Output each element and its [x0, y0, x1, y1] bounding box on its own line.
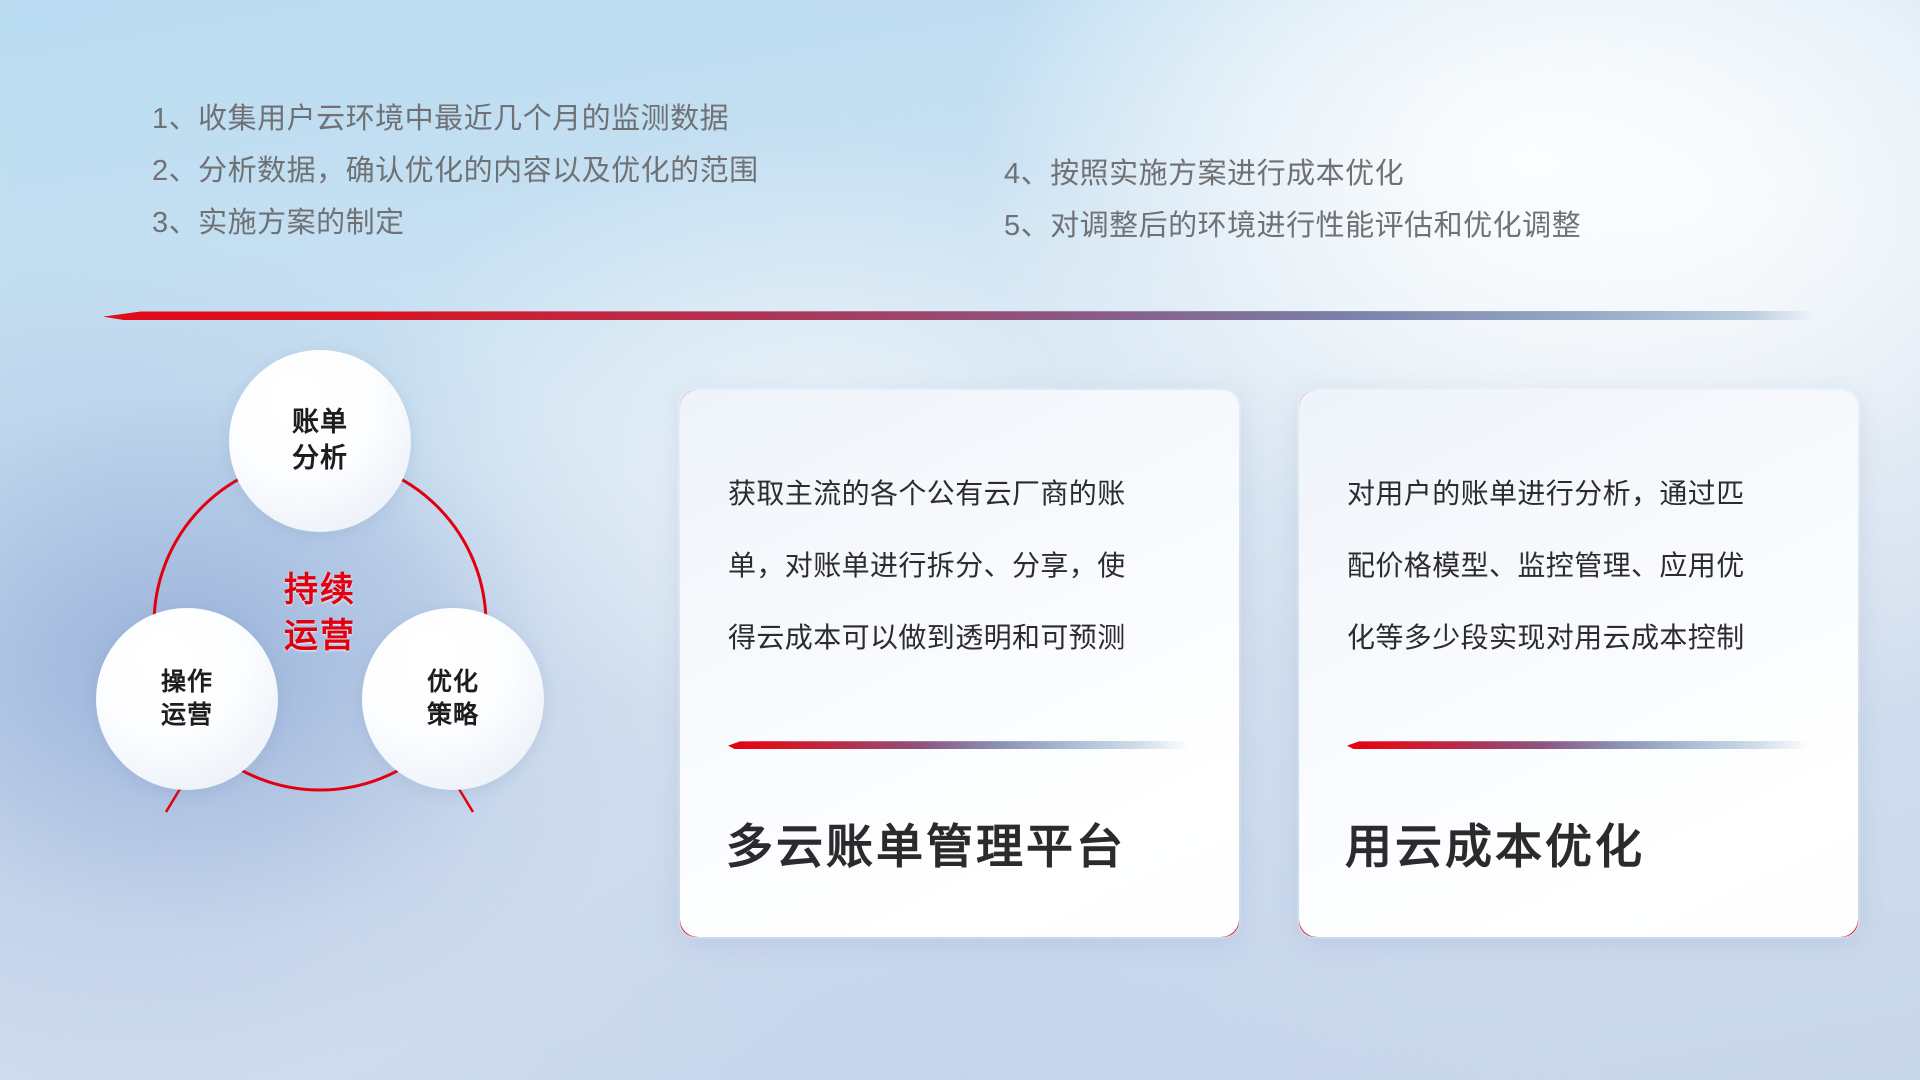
card-1-body-line3: 得云成本可以做到透明和可预测 — [728, 602, 1195, 674]
card-1-body-line2: 单，对账单进行拆分、分享，使 — [728, 530, 1195, 602]
card-cloud-cost-optimization[interactable]: 对用户的账单进行分析，通过匹 配价格模型、监控管理、应用优 化等多少段实现对用云… — [1297, 388, 1860, 939]
diagram-node-bill-analysis-line2: 分析 — [292, 441, 348, 477]
card-1-title: 多云账单管理平台 — [726, 808, 1126, 877]
card-multi-cloud-billing-platform[interactable]: 获取主流的各个公有云厂商的账 单，对账单进行拆分、分享，使 得云成本可以做到透明… — [678, 388, 1241, 939]
steps-list-left: 1、收集用户云环境中最近几个月的监测数据 2、分析数据，确认优化的内容以及优化的… — [152, 93, 759, 249]
card-2-divider — [1347, 741, 1809, 749]
diagram-center-line1: 持续 — [229, 568, 411, 614]
step-item-5: 5、对调整后的环境进行性能评估和优化调整 — [1004, 200, 1581, 252]
cycle-diagram: 账单 分析 操作 运营 优化 策略 持续 运营 — [96, 350, 666, 930]
diagram-center-label: 持续 运营 — [229, 568, 411, 660]
diagram-node-bill-analysis[interactable]: 账单 分析 — [229, 350, 411, 532]
card-2-body-line3: 化等多少段实现对用云成本控制 — [1347, 602, 1814, 674]
step-item-4: 4、按照实施方案进行成本优化 — [1004, 148, 1581, 200]
card-2-body: 对用户的账单进行分析，通过匹 配价格模型、监控管理、应用优 化等多少段实现对用云… — [1347, 458, 1814, 674]
card-1-body: 获取主流的各个公有云厂商的账 单，对账单进行拆分、分享，使 得云成本可以做到透明… — [728, 458, 1195, 674]
steps-list-right: 4、按照实施方案进行成本优化 5、对调整后的环境进行性能评估和优化调整 — [1004, 148, 1581, 252]
diagram-node-optimization-strategy-line1: 优化 — [427, 666, 479, 699]
diagram-node-operations-line2: 运营 — [161, 699, 213, 732]
step-item-2: 2、分析数据，确认优化的内容以及优化的范围 — [152, 145, 759, 197]
card-1-divider — [728, 741, 1190, 749]
card-2-body-line1: 对用户的账单进行分析，通过匹 — [1347, 458, 1814, 530]
diagram-node-optimization-strategy-line2: 策略 — [427, 699, 479, 732]
diagram-node-operations-line1: 操作 — [161, 666, 213, 699]
header-divider — [103, 311, 1816, 320]
diagram-node-bill-analysis-line1: 账单 — [292, 405, 348, 441]
card-1-body-line1: 获取主流的各个公有云厂商的账 — [728, 458, 1195, 530]
diagram-center-line2: 运营 — [229, 614, 411, 660]
card-2-title: 用云成本优化 — [1345, 808, 1645, 877]
step-item-1: 1、收集用户云环境中最近几个月的监测数据 — [152, 93, 759, 145]
step-item-3: 3、实施方案的制定 — [152, 197, 759, 249]
card-2-body-line2: 配价格模型、监控管理、应用优 — [1347, 530, 1814, 602]
